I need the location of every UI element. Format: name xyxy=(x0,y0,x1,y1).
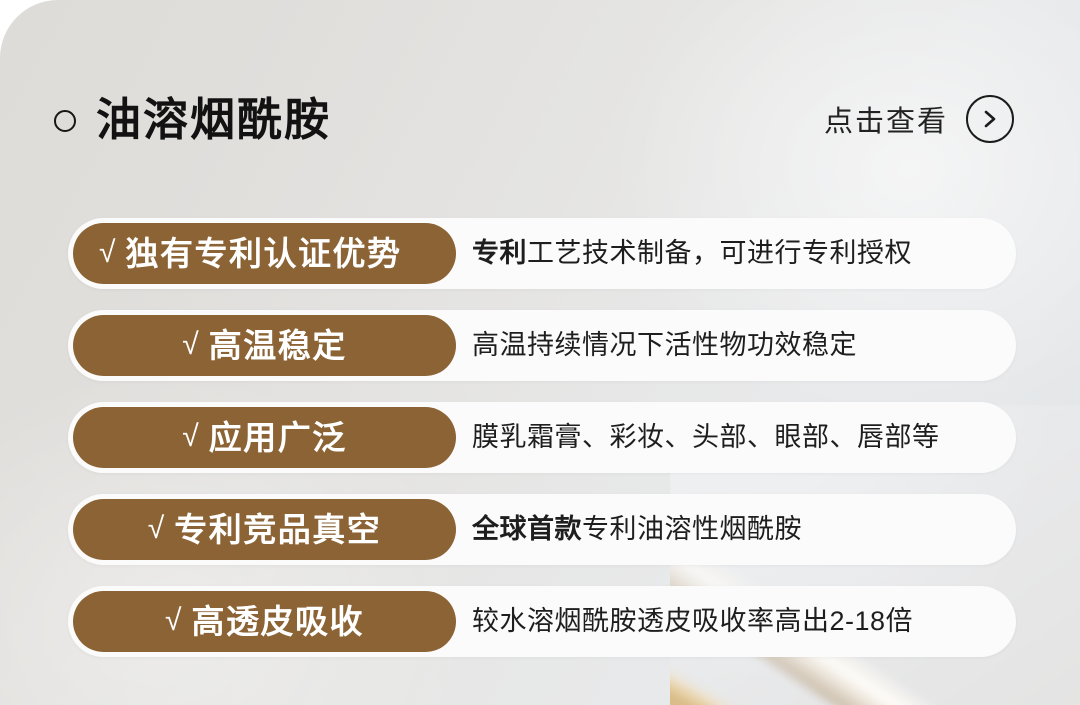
check-icon: √ xyxy=(148,514,164,544)
circle-outline-icon xyxy=(54,110,76,132)
check-icon: √ xyxy=(99,238,115,268)
feature-description-rest: 专利油溶性烟酰胺 xyxy=(582,514,802,544)
feature-pill-label: 应用广泛 xyxy=(209,421,347,454)
feature-row[interactable]: √ 应用广泛 膜乳霜膏、彩妆、头部、眼部、唇部等 xyxy=(68,402,1016,473)
feature-pill[interactable]: √ 高透皮吸收 xyxy=(73,591,456,652)
feature-pill-label: 独有专利认证优势 xyxy=(125,237,401,270)
view-details-button[interactable]: 点击查看 xyxy=(824,95,1014,143)
feature-description: 专利工艺技术制备，可进行专利授权 xyxy=(472,240,990,267)
title-group: 油溶烟酰胺 xyxy=(54,97,331,142)
feature-description: 全球首款专利油溶性烟酰胺 xyxy=(472,516,990,543)
chevron-right-circle-icon[interactable] xyxy=(966,95,1014,143)
feature-description-rest: 高温持续情况下活性物功效稳定 xyxy=(472,330,857,360)
feature-description: 较水溶烟酰胺透皮吸收率高出2-18倍 xyxy=(472,608,990,635)
card-header: 油溶烟酰胺 点击查看 xyxy=(54,86,1014,152)
feature-card: 油溶烟酰胺 点击查看 √ 独有专利认证优势 专利工艺技术制备，可进行专利授权 xyxy=(0,0,1080,705)
feature-description-rest: 工艺技术制备，可进行专利授权 xyxy=(527,238,912,268)
feature-list: √ 独有专利认证优势 专利工艺技术制备，可进行专利授权 √ 高温稳定 高温持续情… xyxy=(68,218,1016,657)
feature-pill-label: 高透皮吸收 xyxy=(191,605,364,638)
feature-description-rest: 膜乳霜膏、彩妆、头部、眼部、唇部等 xyxy=(472,422,940,452)
feature-row[interactable]: √ 高温稳定 高温持续情况下活性物功效稳定 xyxy=(68,310,1016,381)
screenshot-stage: 油溶烟酰胺 点击查看 √ 独有专利认证优势 专利工艺技术制备，可进行专利授权 xyxy=(0,0,1080,705)
check-icon: √ xyxy=(182,330,198,360)
feature-pill[interactable]: √ 应用广泛 xyxy=(73,407,456,468)
page-title: 油溶烟酰胺 xyxy=(96,97,331,142)
check-icon: √ xyxy=(165,606,181,636)
feature-pill-label: 高温稳定 xyxy=(209,329,347,362)
feature-pill[interactable]: √ 专利竞品真空 xyxy=(73,499,456,560)
view-details-label: 点击查看 xyxy=(824,98,948,140)
feature-row[interactable]: √ 专利竞品真空 全球首款专利油溶性烟酰胺 xyxy=(68,494,1016,565)
feature-description-bold: 专利 xyxy=(472,238,527,268)
feature-description: 膜乳霜膏、彩妆、头部、眼部、唇部等 xyxy=(472,424,990,451)
feature-pill[interactable]: √ 独有专利认证优势 xyxy=(73,223,456,284)
feature-description: 高温持续情况下活性物功效稳定 xyxy=(472,332,990,359)
feature-description-bold: 全球首款 xyxy=(472,514,582,544)
feature-pill[interactable]: √ 高温稳定 xyxy=(73,315,456,376)
feature-row[interactable]: √ 独有专利认证优势 专利工艺技术制备，可进行专利授权 xyxy=(68,218,1016,289)
check-icon: √ xyxy=(182,422,198,452)
feature-row[interactable]: √ 高透皮吸收 较水溶烟酰胺透皮吸收率高出2-18倍 xyxy=(68,586,1016,657)
feature-pill-label: 专利竞品真空 xyxy=(174,513,381,546)
dropper-liquid-highlight xyxy=(670,655,817,705)
feature-description-rest: 较水溶烟酰胺透皮吸收率高出2-18倍 xyxy=(472,606,913,636)
